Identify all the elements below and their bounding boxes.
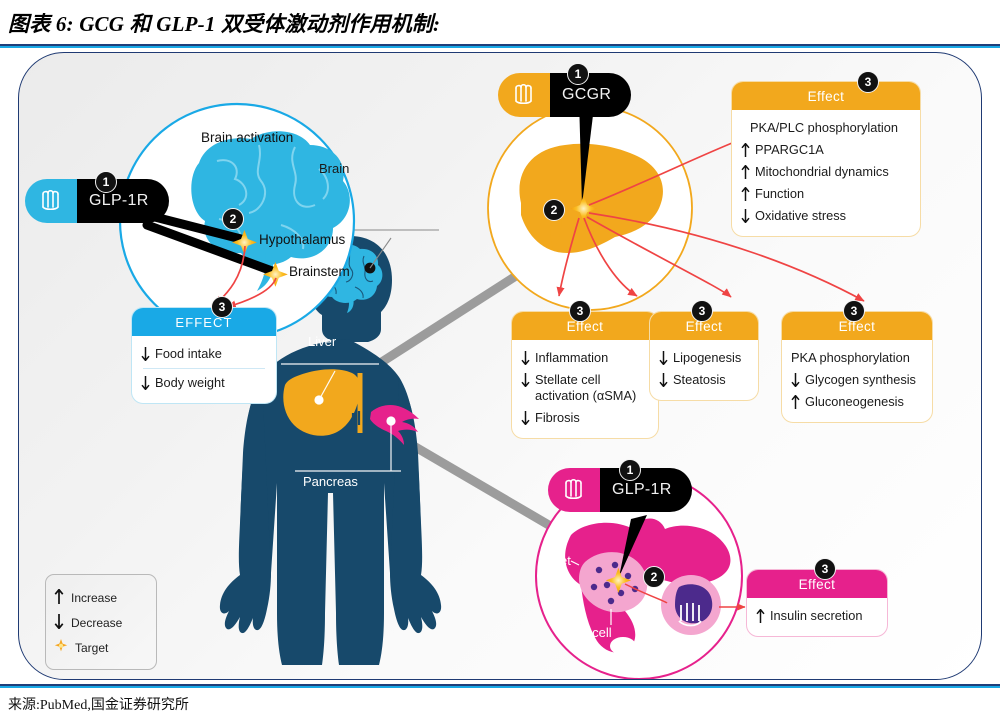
label-islet: Islet bbox=[547, 553, 571, 568]
effect-row: Mitochondrial dynamics bbox=[741, 161, 911, 183]
arrow-down-icon bbox=[521, 410, 530, 425]
effect-row: Glycogen synthesis bbox=[791, 369, 923, 391]
legend-item-target: Target bbox=[54, 635, 148, 660]
effect-row-text: Function bbox=[755, 186, 911, 202]
effect-card-items: Food intake Body weight bbox=[132, 336, 276, 403]
label-brain: Brain bbox=[319, 161, 349, 176]
effect-card-liver-pka-plc[interactable]: Effect PKA/PLC phosphorylation PPARGC1A bbox=[731, 81, 921, 237]
badge-liver-effect-2: 3 bbox=[569, 300, 591, 322]
label-liver: Liver bbox=[308, 334, 336, 349]
legend-box: Increase Decrease Target bbox=[45, 574, 157, 670]
label-brainstem: Brainstem bbox=[289, 264, 350, 279]
effect-row-text: Inflammation bbox=[535, 350, 649, 366]
effect-row-text: Mitochondrial dynamics bbox=[755, 164, 911, 180]
effect-row: Lipogenesis bbox=[659, 347, 749, 369]
receptor-pill-label: GCGR bbox=[550, 73, 631, 117]
effect-row-text: Steatosis bbox=[673, 372, 749, 388]
effect-row-text: PPARGC1A bbox=[755, 142, 911, 158]
label-brain-activation: Brain activation bbox=[201, 130, 293, 145]
badge-brain-2: 2 bbox=[222, 208, 244, 230]
arrow-down-icon bbox=[741, 208, 750, 223]
effect-row: PPARGC1A bbox=[741, 139, 911, 161]
badge-liver-2: 2 bbox=[543, 199, 565, 221]
effect-card-brain[interactable]: EFFECT Food intake Body weight bbox=[131, 307, 277, 404]
arrow-up-icon bbox=[741, 164, 750, 179]
effect-row-text: Glycogen synthesis bbox=[805, 372, 923, 388]
badge-liver-effect-3: 3 bbox=[691, 300, 713, 322]
badge-liver-1: 1 bbox=[567, 63, 589, 85]
label-hypothalamus: Hypothalamus bbox=[259, 232, 345, 247]
effect-row: Oxidative stress bbox=[741, 205, 911, 227]
receptor-icon bbox=[25, 179, 77, 223]
diagram-stage: Brain Liver Pancreas GLP-1R 1 Brai bbox=[19, 53, 981, 679]
effect-row: Inflammation bbox=[521, 347, 649, 369]
arrow-down-icon bbox=[659, 350, 668, 365]
receptor-icon bbox=[498, 73, 550, 117]
arrow-up-icon bbox=[54, 589, 64, 607]
legend-item-label: Target bbox=[75, 641, 108, 655]
effect-card-header: EFFECT bbox=[132, 308, 276, 336]
badge-pancreas-2: 2 bbox=[643, 566, 665, 588]
legend-item-label: Decrease bbox=[71, 616, 122, 630]
badge-pancreas-1: 1 bbox=[619, 459, 641, 481]
badge-pancreas-3: 3 bbox=[814, 558, 836, 580]
effect-row: PKA/PLC phosphorylation bbox=[741, 117, 911, 139]
badge-brain-3: 3 bbox=[211, 296, 233, 318]
arrow-down-icon bbox=[54, 614, 64, 632]
footer-rule-cyan bbox=[0, 686, 1000, 688]
label-beta-cell: β cell bbox=[581, 625, 612, 640]
effect-row: Body weight bbox=[141, 372, 267, 394]
effect-row-text: Food intake bbox=[155, 346, 267, 362]
diagram-panel: Brain Liver Pancreas GLP-1R 1 Brai bbox=[18, 52, 982, 680]
effect-row: Stellate cell activation (αSMA) bbox=[521, 369, 649, 407]
effect-row-text: Body weight bbox=[155, 375, 267, 391]
effect-card-items: Inflammation Stellate cell activation (α… bbox=[512, 340, 658, 438]
effect-card-items: PKA phosphorylation Glycogen synthesis G… bbox=[782, 340, 932, 422]
figure-root: 图表 6: GCG 和 GLP-1 双受体激动剂作用机制: bbox=[0, 0, 1000, 721]
arrow-down-icon bbox=[791, 372, 800, 387]
receptor-pill-label: GLP-1R bbox=[600, 468, 692, 512]
effect-card-items: Lipogenesis Steatosis bbox=[650, 340, 758, 400]
effect-row: Function bbox=[741, 183, 911, 205]
effect-row: Fibrosis bbox=[521, 407, 649, 429]
arrow-up-icon bbox=[756, 608, 765, 623]
badge-brain-1: 1 bbox=[95, 171, 117, 193]
arrow-up-icon bbox=[741, 186, 750, 201]
divider bbox=[143, 368, 265, 369]
effect-card-header: Effect bbox=[732, 82, 920, 110]
receptor-pill-label: GLP-1R bbox=[77, 179, 169, 223]
arrow-down-icon bbox=[141, 375, 150, 390]
header-rule-cyan bbox=[0, 46, 1000, 48]
source-note: 来源:PubMed,国金证券研究所 bbox=[8, 694, 189, 714]
effect-row: Gluconeogenesis bbox=[791, 391, 923, 413]
effect-row-text: PKA/PLC phosphorylation bbox=[750, 120, 911, 136]
effect-card-liver-lipogenesis[interactable]: Effect Lipogenesis Steatosis bbox=[649, 311, 759, 401]
effect-row-text: Gluconeogenesis bbox=[805, 394, 923, 410]
effect-row: PKA phosphorylation bbox=[791, 347, 923, 369]
arrow-down-icon bbox=[659, 372, 668, 387]
receptor-icon bbox=[548, 468, 600, 512]
legend-item-label: Increase bbox=[71, 591, 117, 605]
figure-title: 图表 6: GCG 和 GLP-1 双受体激动剂作用机制: bbox=[8, 8, 988, 38]
effect-card-liver-inflammation[interactable]: Effect Inflammation Stellate cell activa… bbox=[511, 311, 659, 439]
effect-card-items: PKA/PLC phosphorylation PPARGC1A Mitocho… bbox=[732, 110, 920, 236]
legend-item-increase: Increase bbox=[54, 585, 148, 610]
badge-liver-effect-4: 3 bbox=[843, 300, 865, 322]
arrow-down-icon bbox=[521, 350, 530, 365]
effect-row-text: Insulin secretion bbox=[770, 608, 878, 624]
label-pancreas: Pancreas bbox=[303, 474, 358, 489]
effect-row-text: Stellate cell activation (αSMA) bbox=[535, 372, 649, 404]
effect-row-text: PKA phosphorylation bbox=[791, 350, 923, 366]
badge-liver-effect-1: 3 bbox=[857, 71, 879, 93]
arrow-down-icon bbox=[141, 346, 150, 361]
effect-card-liver-pka[interactable]: Effect PKA phosphorylation Glycogen synt… bbox=[781, 311, 933, 423]
effect-card-items: Insulin secretion bbox=[747, 598, 887, 636]
effect-row-text: Fibrosis bbox=[535, 410, 649, 426]
arrow-down-icon bbox=[521, 372, 530, 387]
effect-row-text: Oxidative stress bbox=[755, 208, 911, 224]
target-star-icon bbox=[54, 639, 68, 656]
effect-row: Insulin secretion bbox=[756, 605, 878, 627]
effect-row: Food intake bbox=[141, 343, 267, 365]
arrow-up-icon bbox=[791, 394, 800, 409]
legend-item-decrease: Decrease bbox=[54, 610, 148, 635]
receptor-pill-gcgr[interactable]: GCGR bbox=[498, 73, 631, 117]
effect-row-text: Lipogenesis bbox=[673, 350, 749, 366]
effect-row: Steatosis bbox=[659, 369, 749, 391]
effect-card-pancreas[interactable]: Effect Insulin secretion bbox=[746, 569, 888, 637]
arrow-up-icon bbox=[741, 142, 750, 157]
